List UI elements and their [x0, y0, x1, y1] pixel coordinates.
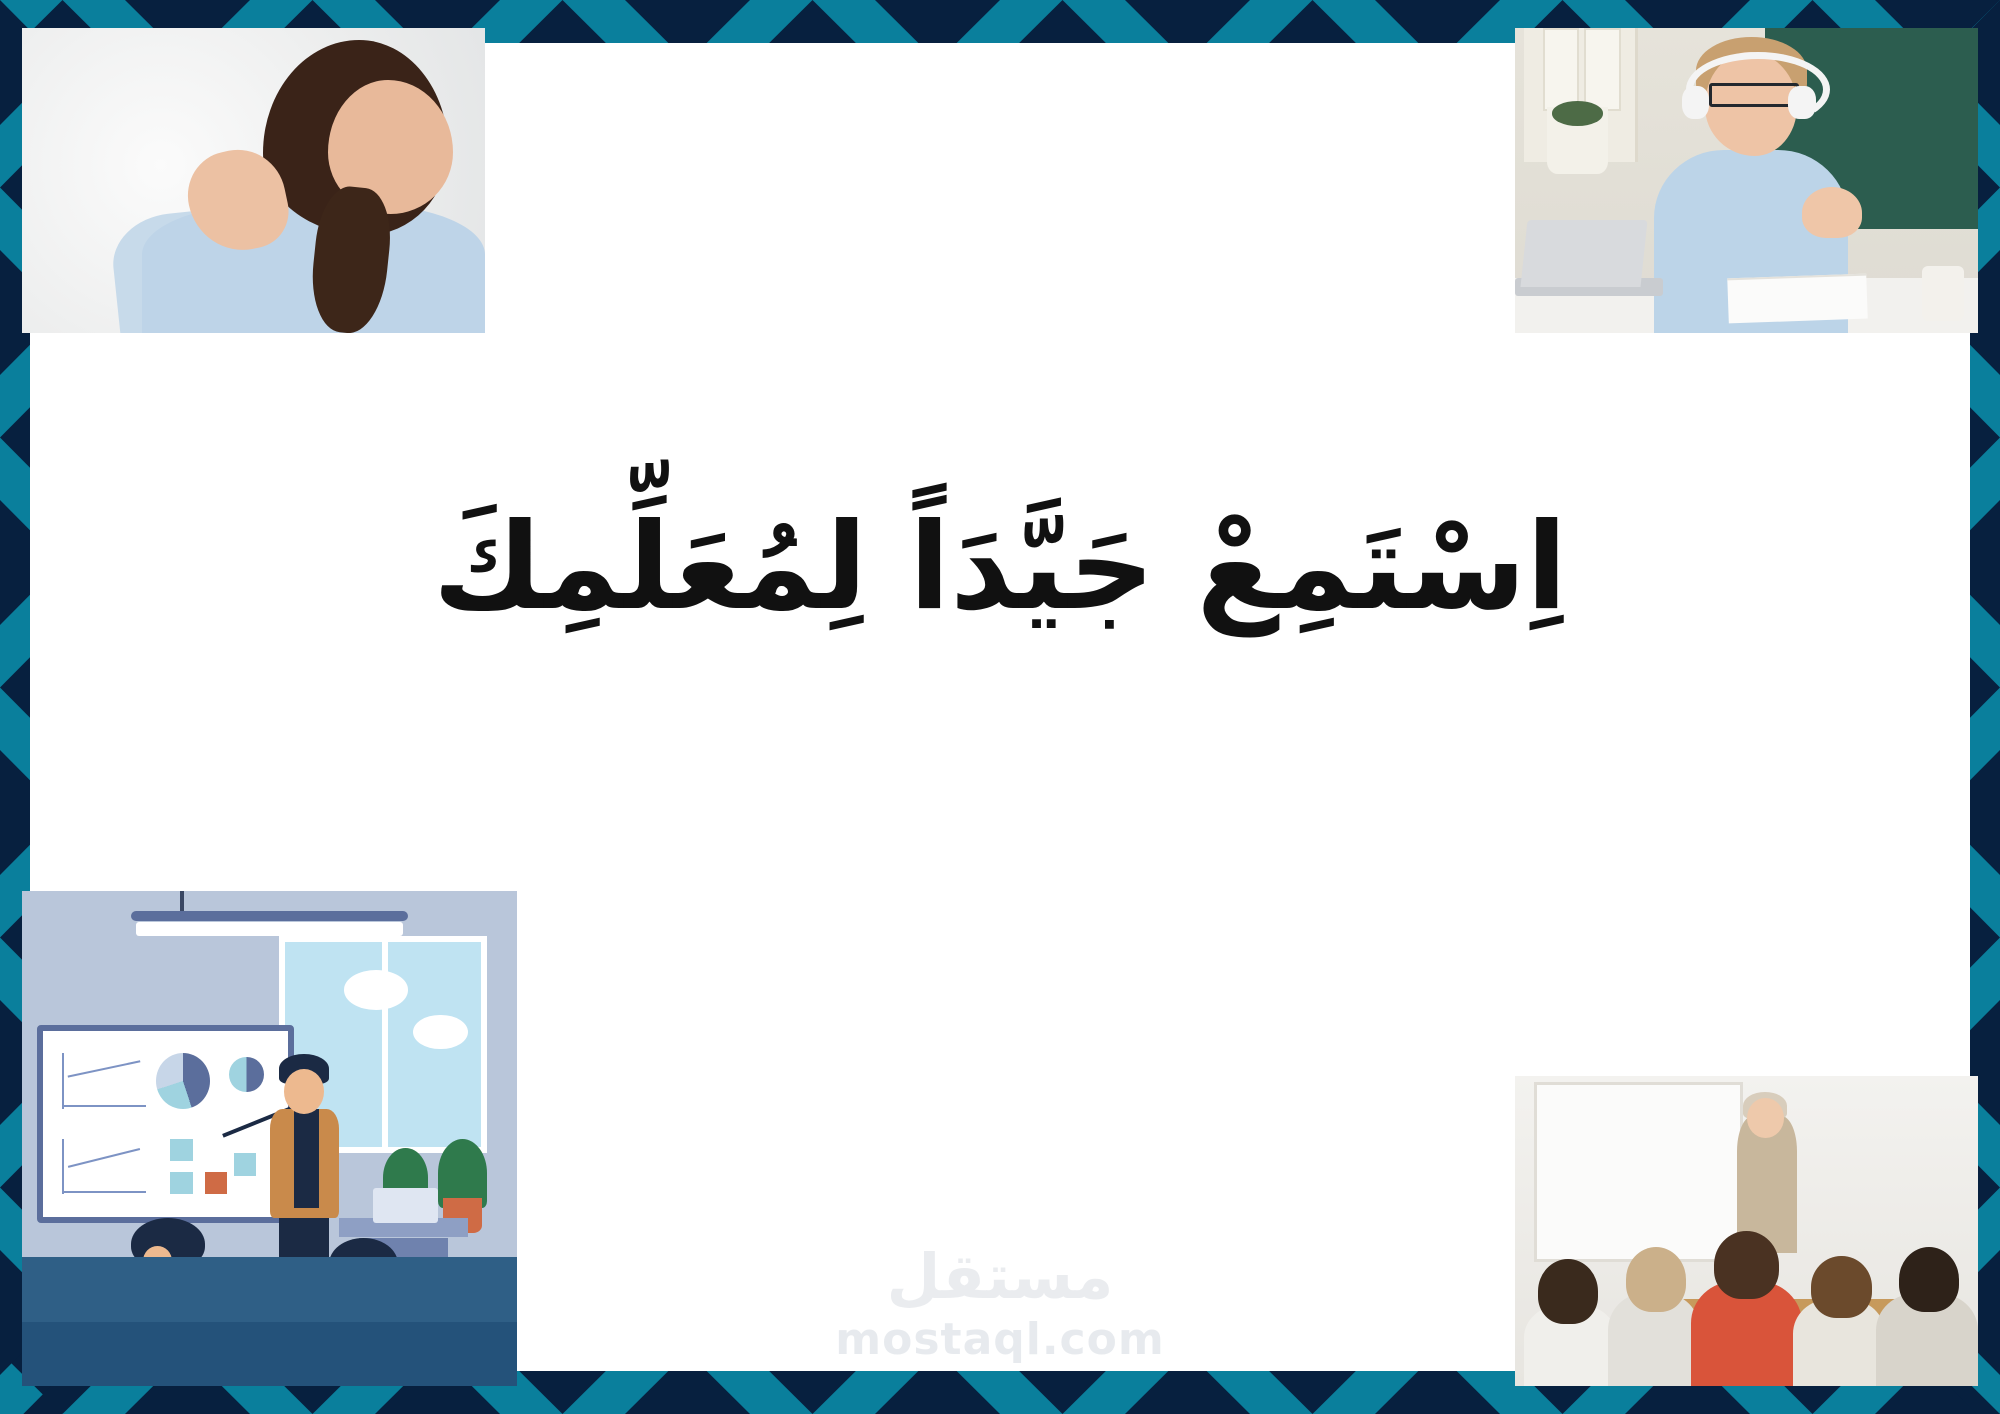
- teacher-with-headphones-photo: [1515, 28, 1978, 333]
- classroom-students-photo: [1515, 1076, 1978, 1386]
- content-card: اِسْتَمِعْ جَيَّدَاً لِمُعَلِّمِكَ مستقل…: [30, 43, 1970, 1371]
- poster-title-wrapper: اِسْتَمِعْ جَيَّدَاً لِمُعَلِّمِكَ: [30, 473, 1970, 663]
- poster-canvas: اِسْتَمِعْ جَيَّدَاً لِمُعَلِّمِكَ مستقل…: [0, 0, 2000, 1414]
- poster-title: اِسْتَمِعْ جَيَّدَاً لِمُعَلِّمِكَ: [433, 491, 1567, 645]
- woman-cupping-ear-photo: [22, 28, 485, 333]
- mostaql-watermark: مستقل mostaql.com: [835, 1246, 1165, 1365]
- watermark-domain-text: mostaql.com: [835, 1314, 1165, 1365]
- classroom-illustration: [22, 891, 517, 1386]
- watermark-arabic-text: مستقل: [835, 1246, 1165, 1308]
